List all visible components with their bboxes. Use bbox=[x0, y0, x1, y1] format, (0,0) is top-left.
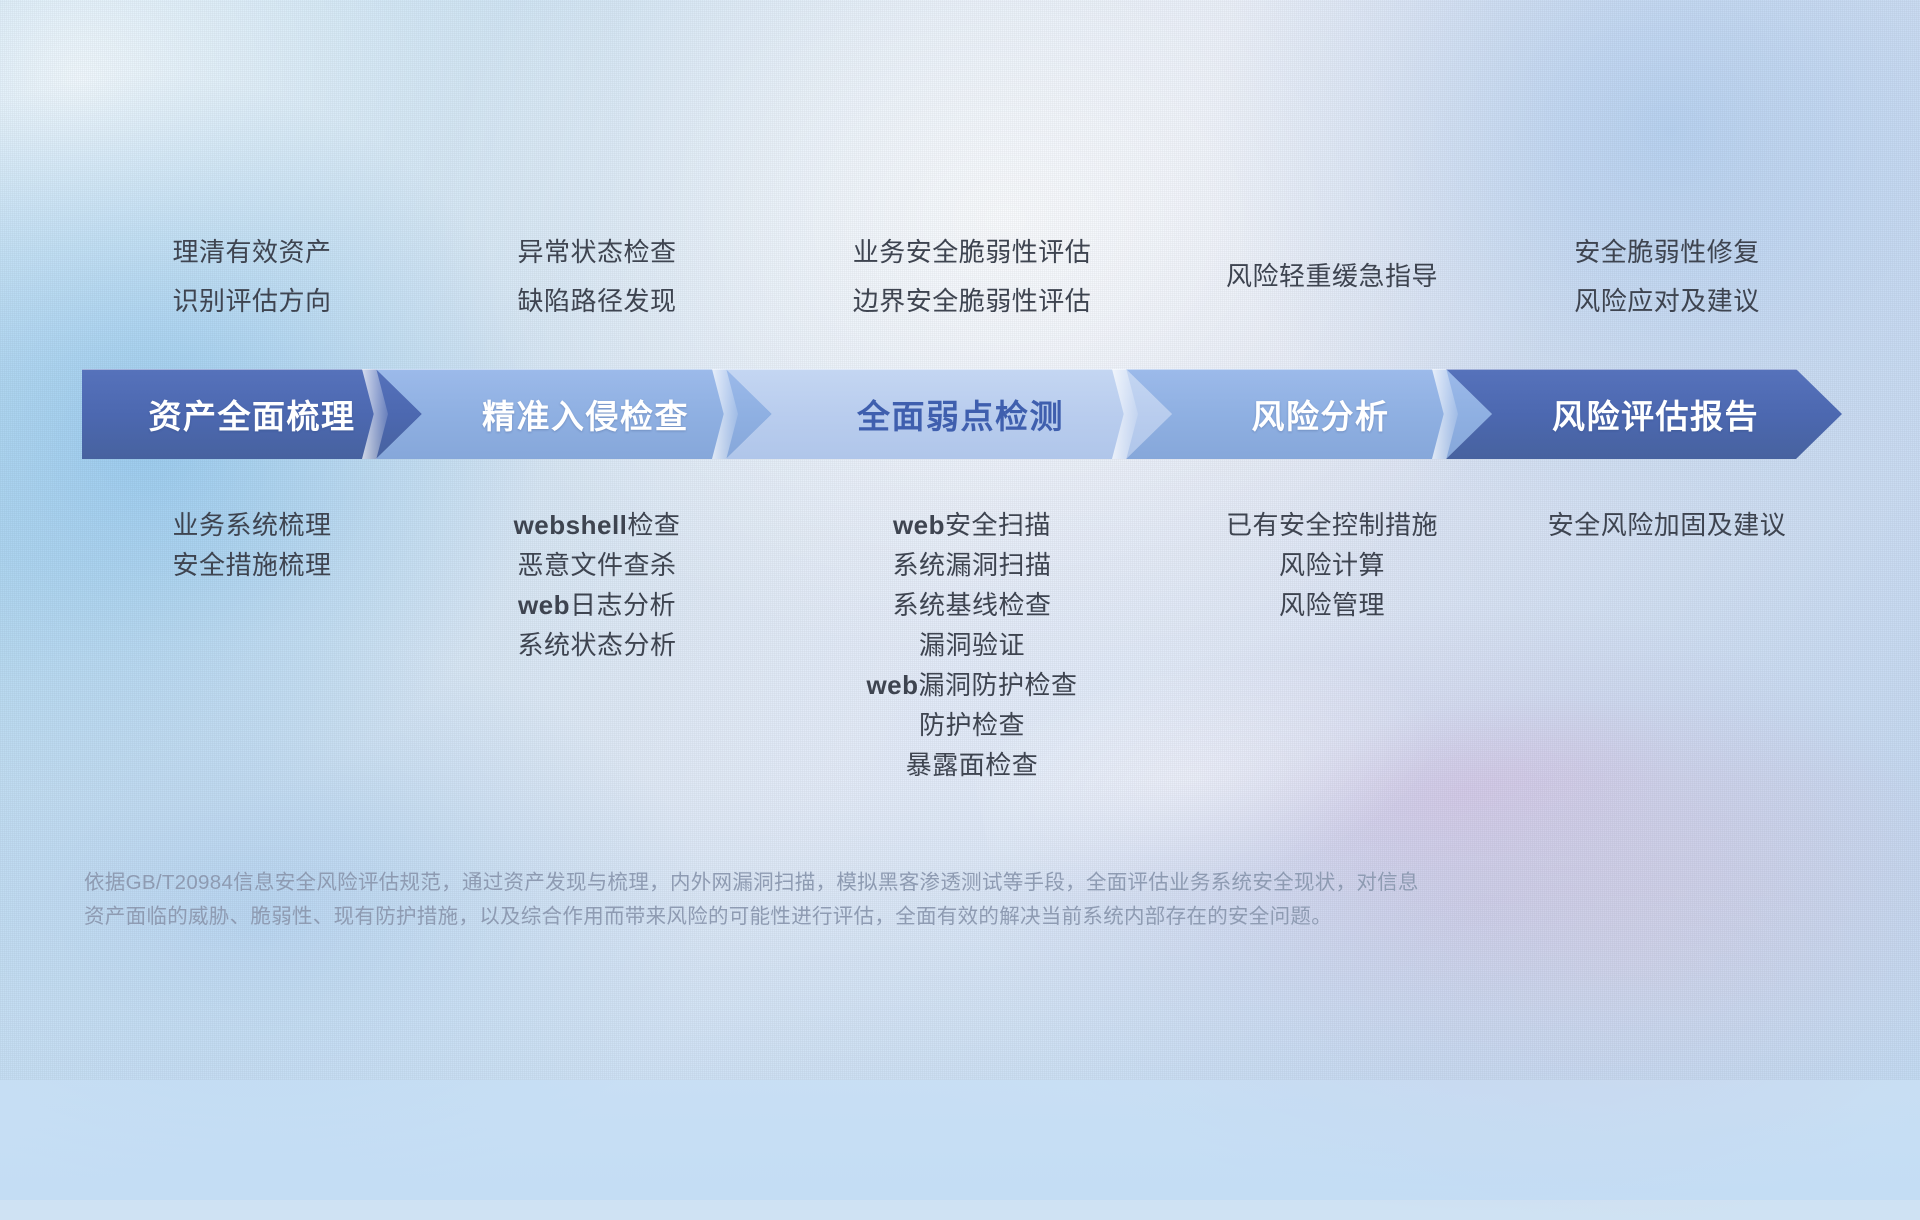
bottom-label-item: 风险计算 bbox=[1279, 545, 1385, 585]
bottom-label-bold-prefix: webshell bbox=[514, 510, 628, 540]
bottom-label-item: 业务系统梳理 bbox=[172, 505, 331, 545]
bottom-label-item: 防护检查 bbox=[919, 705, 1025, 745]
bottom-label-item: 安全措施梳理 bbox=[172, 545, 331, 585]
top-label-item: 缺陷路径发现 bbox=[517, 277, 676, 326]
top-label-column-5: 安全脆弱性修复风险应对及建议 bbox=[1417, 228, 1917, 326]
bottom-label-text: 检查 bbox=[627, 510, 680, 540]
bottom-label-item: 系统基线检查 bbox=[892, 585, 1051, 625]
bottom-label-item: 漏洞验证 bbox=[919, 625, 1025, 665]
top-label-item: 风险应对及建议 bbox=[1574, 277, 1760, 326]
stage-arrow-label-2: 精准入侵检查 bbox=[482, 390, 689, 438]
stage-arrow-band: 资产全面梳理精准入侵检查全面弱点检测风险分析风险评估报告 bbox=[82, 369, 1842, 459]
bottom-label-item: 系统状态分析 bbox=[517, 625, 676, 665]
top-label-item: 风险轻重缓急指导 bbox=[1226, 252, 1438, 301]
top-label-item: 安全脆弱性修复 bbox=[1574, 228, 1760, 277]
stage-arrow-label-3: 全面弱点检测 bbox=[857, 390, 1064, 438]
bottom-label-item: 系统漏洞扫描 bbox=[892, 545, 1051, 585]
stage-arrow-label-4: 风险分析 bbox=[1252, 390, 1390, 438]
footer-line-1: 依据GB/T20984信息安全风险评估规范，通过资产发现与梳理，内外网漏洞扫描，… bbox=[84, 866, 1844, 900]
stage-arrow-label-5: 风险评估报告 bbox=[1552, 390, 1759, 438]
bottom-label-item: web漏洞防护检查 bbox=[866, 665, 1077, 705]
bottom-label-text: 漏洞防护检查 bbox=[919, 670, 1078, 700]
bottom-label-item: 已有安全控制措施 bbox=[1226, 505, 1438, 545]
top-label-item: 异常状态检查 bbox=[517, 228, 676, 277]
bottom-label-bold-prefix: web bbox=[518, 590, 570, 620]
footer-line-2: 资产面临的威胁、脆弱性、现有防护措施，以及综合作用而带来风险的可能性进行评估，全… bbox=[84, 900, 1844, 934]
top-label-item: 识别评估方向 bbox=[172, 277, 331, 326]
top-label-item: 边界安全脆弱性评估 bbox=[853, 277, 1092, 326]
bottom-label-bold-prefix: web bbox=[893, 510, 945, 540]
bottom-label-item: 安全风险加固及建议 bbox=[1548, 505, 1787, 545]
stage-arrow-label-1: 资产全面梳理 bbox=[149, 390, 356, 438]
bottom-label-item: web日志分析 bbox=[518, 585, 676, 625]
top-label-item: 业务安全脆弱性评估 bbox=[853, 228, 1092, 277]
top-label-item: 理清有效资产 bbox=[172, 228, 331, 277]
bottom-label-item: web安全扫描 bbox=[893, 505, 1051, 545]
footer-description: 依据GB/T20984信息安全风险评估规范，通过资产发现与梳理，内外网漏洞扫描，… bbox=[84, 866, 1844, 934]
bottom-label-column-5: 安全风险加固及建议 bbox=[1417, 505, 1917, 545]
stage-arrow-3[interactable]: 全面弱点检测 bbox=[726, 369, 1172, 459]
bottom-label-text: 日志分析 bbox=[570, 590, 676, 620]
bottom-label-item: 暴露面检查 bbox=[906, 745, 1039, 785]
bottom-label-item: 风险管理 bbox=[1279, 585, 1385, 625]
stage-arrow-2[interactable]: 精准入侵检查 bbox=[376, 369, 772, 459]
bottom-label-item: 恶意文件查杀 bbox=[517, 545, 676, 585]
process-diagram: 理清有效资产识别评估方向异常状态检查缺陷路径发现业务安全脆弱性评估边界安全脆弱性… bbox=[0, 0, 1920, 1080]
bottom-label-bold-prefix: web bbox=[866, 670, 918, 700]
bottom-label-text: 安全扫描 bbox=[945, 510, 1051, 540]
stage-arrow-5[interactable]: 风险评估报告 bbox=[1446, 369, 1842, 459]
bottom-label-item: webshell检查 bbox=[514, 505, 681, 545]
